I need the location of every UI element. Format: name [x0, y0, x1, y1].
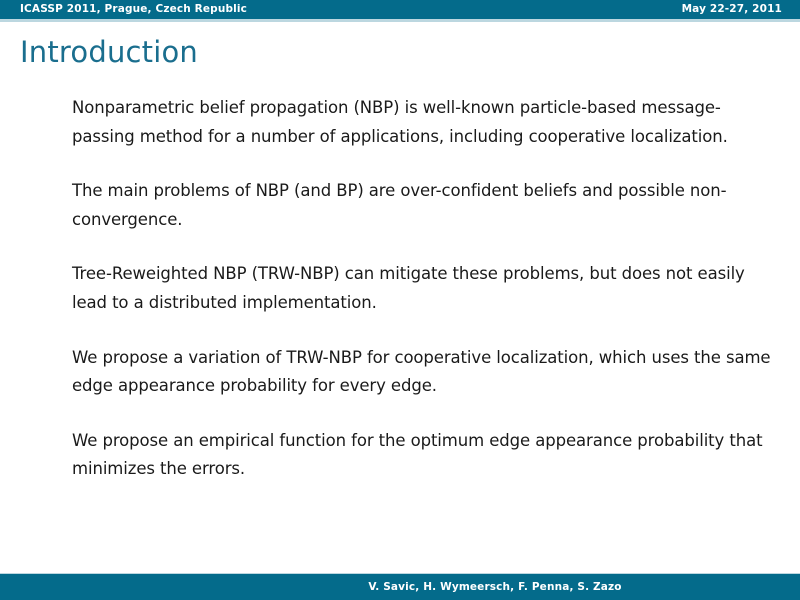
body-paragraph: Nonparametric belief propagation (NBP) i… — [72, 94, 772, 151]
body-paragraph: We propose a variation of TRW-NBP for co… — [72, 344, 772, 401]
conference-name: ICASSP 2011, Prague, Czech Republic — [20, 4, 247, 15]
author-list: V. Savic, H. Wymeersch, F. Penna, S. Zaz… — [368, 582, 621, 593]
presentation-slide: ICASSP 2011, Prague, Czech Republic May … — [0, 0, 800, 600]
conference-date: May 22-27, 2011 — [682, 4, 782, 15]
slide-title: Introduction — [20, 36, 198, 69]
header-divider-highlight — [0, 22, 800, 23]
body-paragraph: We propose an empirical function for the… — [72, 427, 772, 484]
slide-body: Nonparametric belief propagation (NBP) i… — [72, 94, 772, 484]
body-paragraph: The main problems of NBP (and BP) are ov… — [72, 177, 772, 234]
slide-footer-bar: V. Savic, H. Wymeersch, F. Penna, S. Zaz… — [0, 574, 800, 600]
slide-header-bar: ICASSP 2011, Prague, Czech Republic May … — [0, 0, 800, 19]
body-paragraph: Tree-Reweighted NBP (TRW-NBP) can mitiga… — [72, 260, 772, 317]
